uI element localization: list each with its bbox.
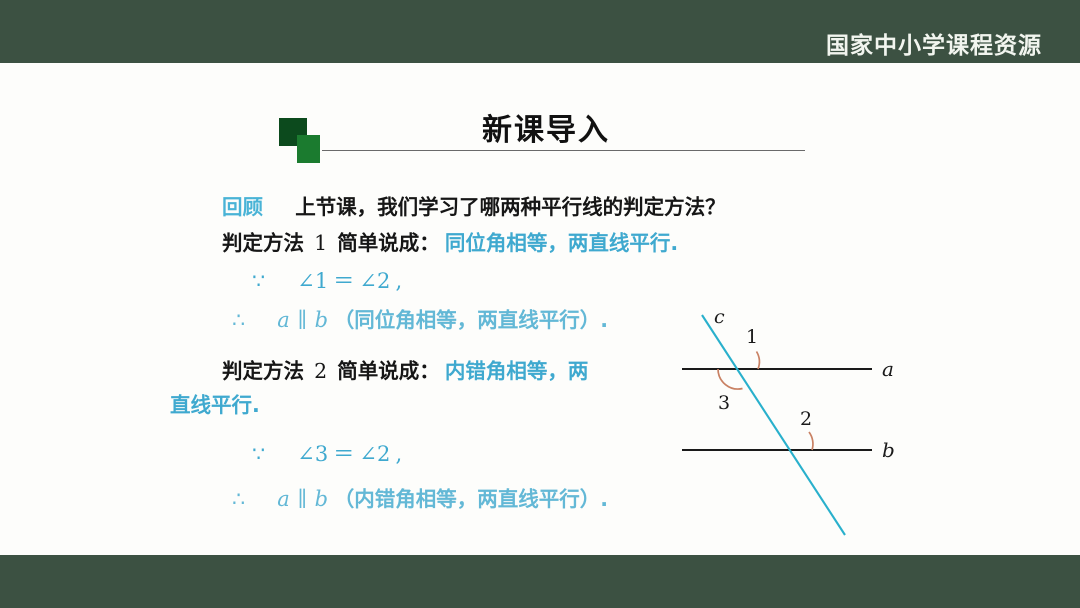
because2-angle-3: ∠3 [297, 442, 328, 466]
therefore2-reason: （内错角相等，两直线平行）. [334, 487, 608, 511]
method2-number: 2 [309, 359, 332, 383]
method2-line: 判定方法 2 简单说成： 内错角相等，两 [222, 354, 588, 384]
recall-label: 回顾 [222, 195, 263, 219]
label-angle-2: 2 [800, 408, 812, 430]
label-line-a: a [882, 357, 894, 381]
because1-comma: , [395, 269, 402, 293]
because2-angle-2: ∠2 [359, 442, 390, 466]
therefore-symbol: ∴ [232, 487, 245, 511]
because2-line: ∵ ∠3 ＝ ∠2 , [252, 438, 402, 468]
line-c-transversal [702, 315, 845, 535]
therefore2-parallel-symbol: ∥ [295, 487, 309, 511]
method2-prefix: 判定方法 [222, 359, 304, 383]
diagram-svg: c a b 1 3 2 [660, 295, 920, 550]
therefore1-line: ∴ a ∥ b （同位角相等，两直线平行）. [232, 303, 608, 333]
therefore1-var-a: a [277, 308, 290, 332]
because-symbol: ∵ [252, 269, 265, 293]
method2-conclusion-part2: 直线平行. [170, 393, 260, 417]
because1-angle-2: ∠2 [359, 269, 390, 293]
method2-mid: 简单说成： [337, 359, 440, 383]
label-line-c: c [714, 306, 725, 328]
therefore2-line: ∴ a ∥ b （内错角相等，两直线平行）. [232, 482, 608, 512]
method2-conclusion-part1: 内错角相等，两 [445, 359, 589, 383]
therefore2-var-a: a [277, 487, 290, 511]
angle-arc-2 [809, 432, 813, 450]
label-angle-1: 1 [746, 326, 758, 348]
therefore1-reason: （同位角相等，两直线平行）. [334, 308, 608, 332]
method1-mid: 简单说成： [337, 231, 440, 255]
slide-canvas: 国家中小学课程资源 新课导入 回顾 上节课，我们学习了哪两种平行线的判定方法？ … [0, 0, 1080, 608]
parallel-lines-diagram: c a b 1 3 2 [660, 295, 920, 550]
therefore1-var-b: b [315, 308, 329, 332]
because1-line: ∵ ∠1 ＝ ∠2 , [252, 265, 402, 295]
method1-conclusion: 同位角相等，两直线平行. [445, 231, 678, 255]
recall-line: 回顾 上节课，我们学习了哪两种平行线的判定方法？ [222, 190, 726, 220]
method1-line: 判定方法 1 简单说成： 同位角相等，两直线平行. [222, 226, 678, 256]
because2-comma: , [395, 442, 402, 466]
label-angle-3: 3 [718, 392, 730, 414]
therefore2-var-b: b [315, 487, 329, 511]
therefore-symbol: ∴ [232, 308, 245, 332]
method2-wrap-line: 直线平行. [170, 388, 260, 418]
because1-equals: ＝ [333, 269, 354, 293]
angle-arc-1 [757, 352, 760, 370]
because1-angle-1: ∠1 [297, 269, 328, 293]
because2-equals: ＝ [333, 442, 354, 466]
footer-bar [0, 555, 1080, 608]
therefore1-parallel-symbol: ∥ [295, 308, 309, 332]
recall-question: 上节课，我们学习了哪两种平行线的判定方法？ [295, 195, 726, 219]
because-symbol: ∵ [252, 442, 265, 466]
method1-prefix: 判定方法 [222, 231, 304, 255]
label-line-b: b [882, 438, 895, 462]
method1-number: 1 [309, 231, 332, 255]
